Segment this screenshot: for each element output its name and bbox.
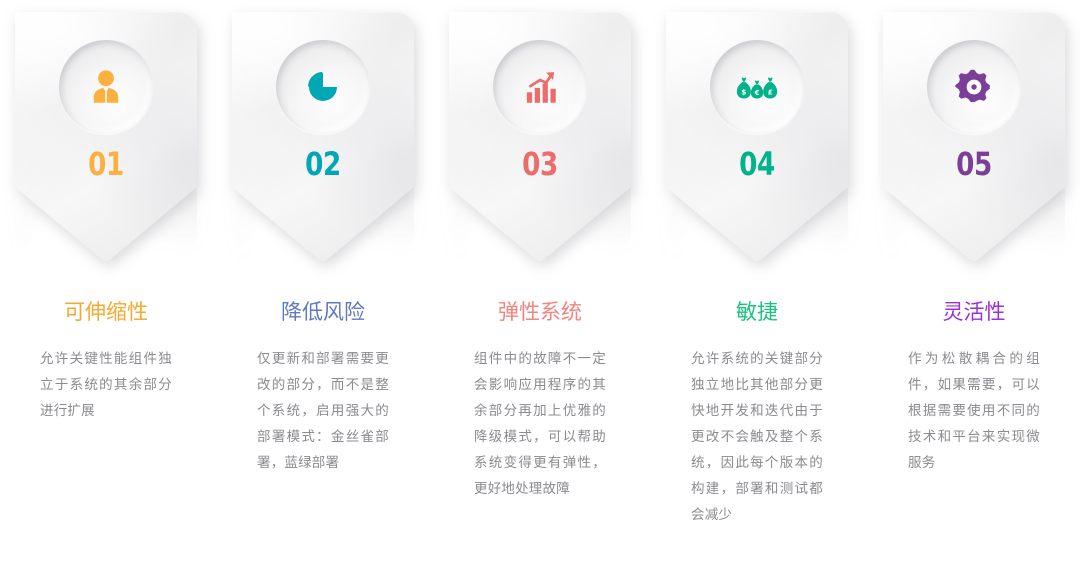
pie-chart-icon (302, 66, 344, 108)
bar-chart-growth-icon (519, 66, 561, 108)
infographic-board: 01 可伸缩性 允许关键性能组件独立于系统的其余部分进行扩展 02 降低风险 仅… (0, 0, 1080, 565)
gear-icon (953, 66, 995, 108)
card-number: 02 (248, 148, 397, 180)
icon-recess (276, 40, 370, 134)
svg-text:€: € (754, 89, 760, 97)
card-number: 05 (899, 148, 1048, 180)
shield-badge-03: 03 (449, 12, 631, 262)
user-icon (85, 66, 127, 108)
card-number: 04 (682, 148, 831, 180)
info-card-02: 02 降低风险 仅更新和部署需要更改的部分，而不是整个系统，启用强大的部署模式：… (223, 0, 423, 565)
card-body: 允许关键性能组件独立于系统的其余部分进行扩展 (40, 347, 172, 425)
card-number: 01 (31, 148, 180, 180)
card-heading: 降低风险 (281, 301, 365, 324)
shield-badge-02: 02 (232, 12, 414, 262)
svg-text:£: £ (768, 87, 773, 96)
card-heading: 可伸缩性 (64, 301, 148, 324)
info-card-05: 05 灵活性 作为松散耦合的组件，如果需要，可以根据需要使用不同的技术和平台来实… (874, 0, 1074, 565)
money-bags-icon: $ € £ (734, 66, 780, 108)
card-heading: 敏捷 (736, 301, 778, 324)
icon-recess: $ € £ (710, 40, 804, 134)
shield-badge-05: 05 (883, 12, 1065, 262)
card-heading: 弹性系统 (498, 301, 582, 324)
shield-badge-01: 01 (15, 12, 197, 262)
card-number: 03 (465, 148, 614, 180)
card-heading: 灵活性 (943, 301, 1006, 324)
card-body: 仅更新和部署需要更改的部分，而不是整个系统，启用强大的部署模式：金丝雀部署，蓝绿… (257, 347, 389, 477)
card-body: 组件中的故障不一定会影响应用程序的其余部分再加上优雅的降级模式，可以帮助系统变得… (474, 347, 606, 502)
icon-recess (493, 40, 587, 134)
svg-text:$: $ (741, 87, 746, 96)
card-body: 作为松散耦合的组件，如果需要，可以根据需要使用不同的技术和平台来实现微服务 (908, 347, 1040, 477)
icon-recess (59, 40, 153, 134)
info-card-03: 03 弹性系统 组件中的故障不一定会影响应用程序的其余部分再加上优雅的降级模式，… (440, 0, 640, 565)
card-body: 允许系统的关键部分独立地比其他部分更快地开发和迭代由于更改不会触及整个系统，因此… (691, 347, 823, 528)
info-card-01: 01 可伸缩性 允许关键性能组件独立于系统的其余部分进行扩展 (6, 0, 206, 565)
icon-recess (927, 40, 1021, 134)
info-card-04: $ € £ 04 敏捷 允许系统的关键部分独立地比其他部分更快地开发和迭代由于更… (657, 0, 857, 565)
shield-badge-04: $ € £ 04 (666, 12, 848, 262)
